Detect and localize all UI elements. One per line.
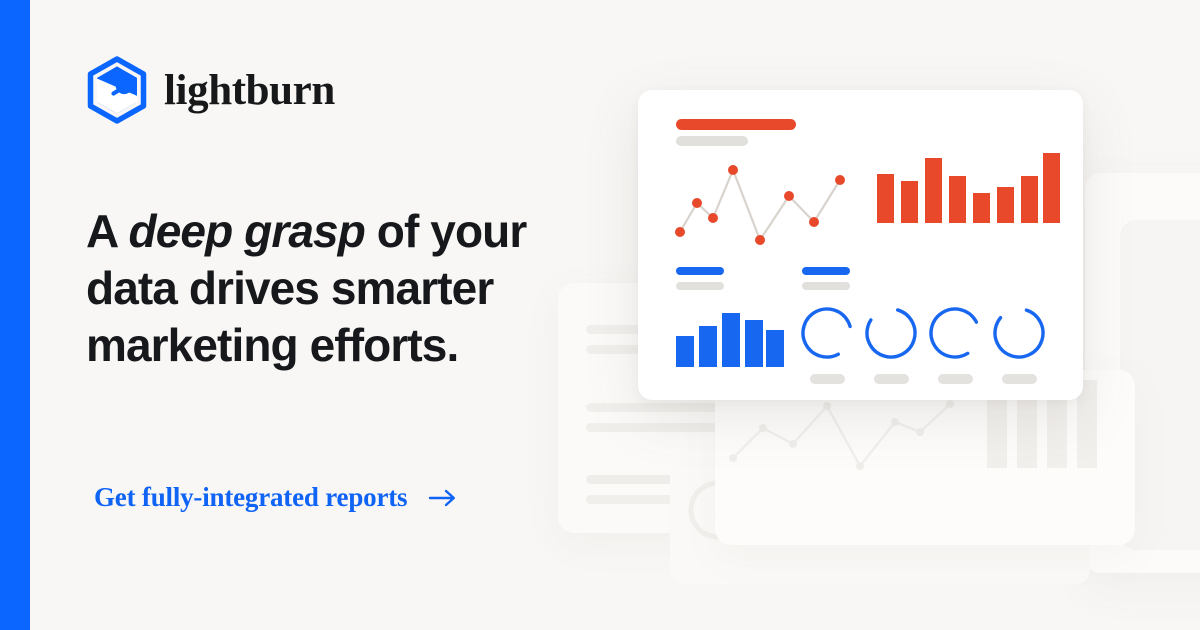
gauge-caption-1 xyxy=(810,374,845,384)
gauge-caption-2 xyxy=(874,374,909,384)
arrow-right-icon xyxy=(429,488,457,508)
main-dashboard-card xyxy=(638,90,1083,400)
orange-line-chart xyxy=(670,152,875,252)
brand-logo[interactable]: lightburn xyxy=(86,57,335,123)
headline-emphasis: deep grasp xyxy=(129,205,365,257)
gauge-caption-4 xyxy=(1002,374,1037,384)
orange-bar-chart xyxy=(877,151,1055,223)
cta-label: Get fully-integrated reports xyxy=(94,482,407,513)
left-accent-bar xyxy=(0,0,30,630)
hexagon-scissors-icon xyxy=(86,57,148,123)
headline-part1: A xyxy=(86,205,129,257)
cta-link[interactable]: Get fully-integrated reports xyxy=(94,482,457,513)
blue-gauge-rings xyxy=(802,302,1050,364)
blue-bar-chart xyxy=(676,312,784,367)
grey-subtitle-bar-left xyxy=(676,282,724,290)
blue-title-bar-left xyxy=(676,267,724,275)
grey-subtitle-bar xyxy=(676,136,748,146)
dashboard-illustration xyxy=(520,40,1200,630)
poster-canvas: lightburn A deep grasp of your data driv… xyxy=(0,0,1200,630)
orange-title-bar xyxy=(676,119,796,130)
brand-wordmark: lightburn xyxy=(164,69,335,112)
grey-subtitle-bar-right xyxy=(802,282,850,290)
blue-title-bar-right xyxy=(802,267,850,275)
gauge-caption-3 xyxy=(938,374,973,384)
